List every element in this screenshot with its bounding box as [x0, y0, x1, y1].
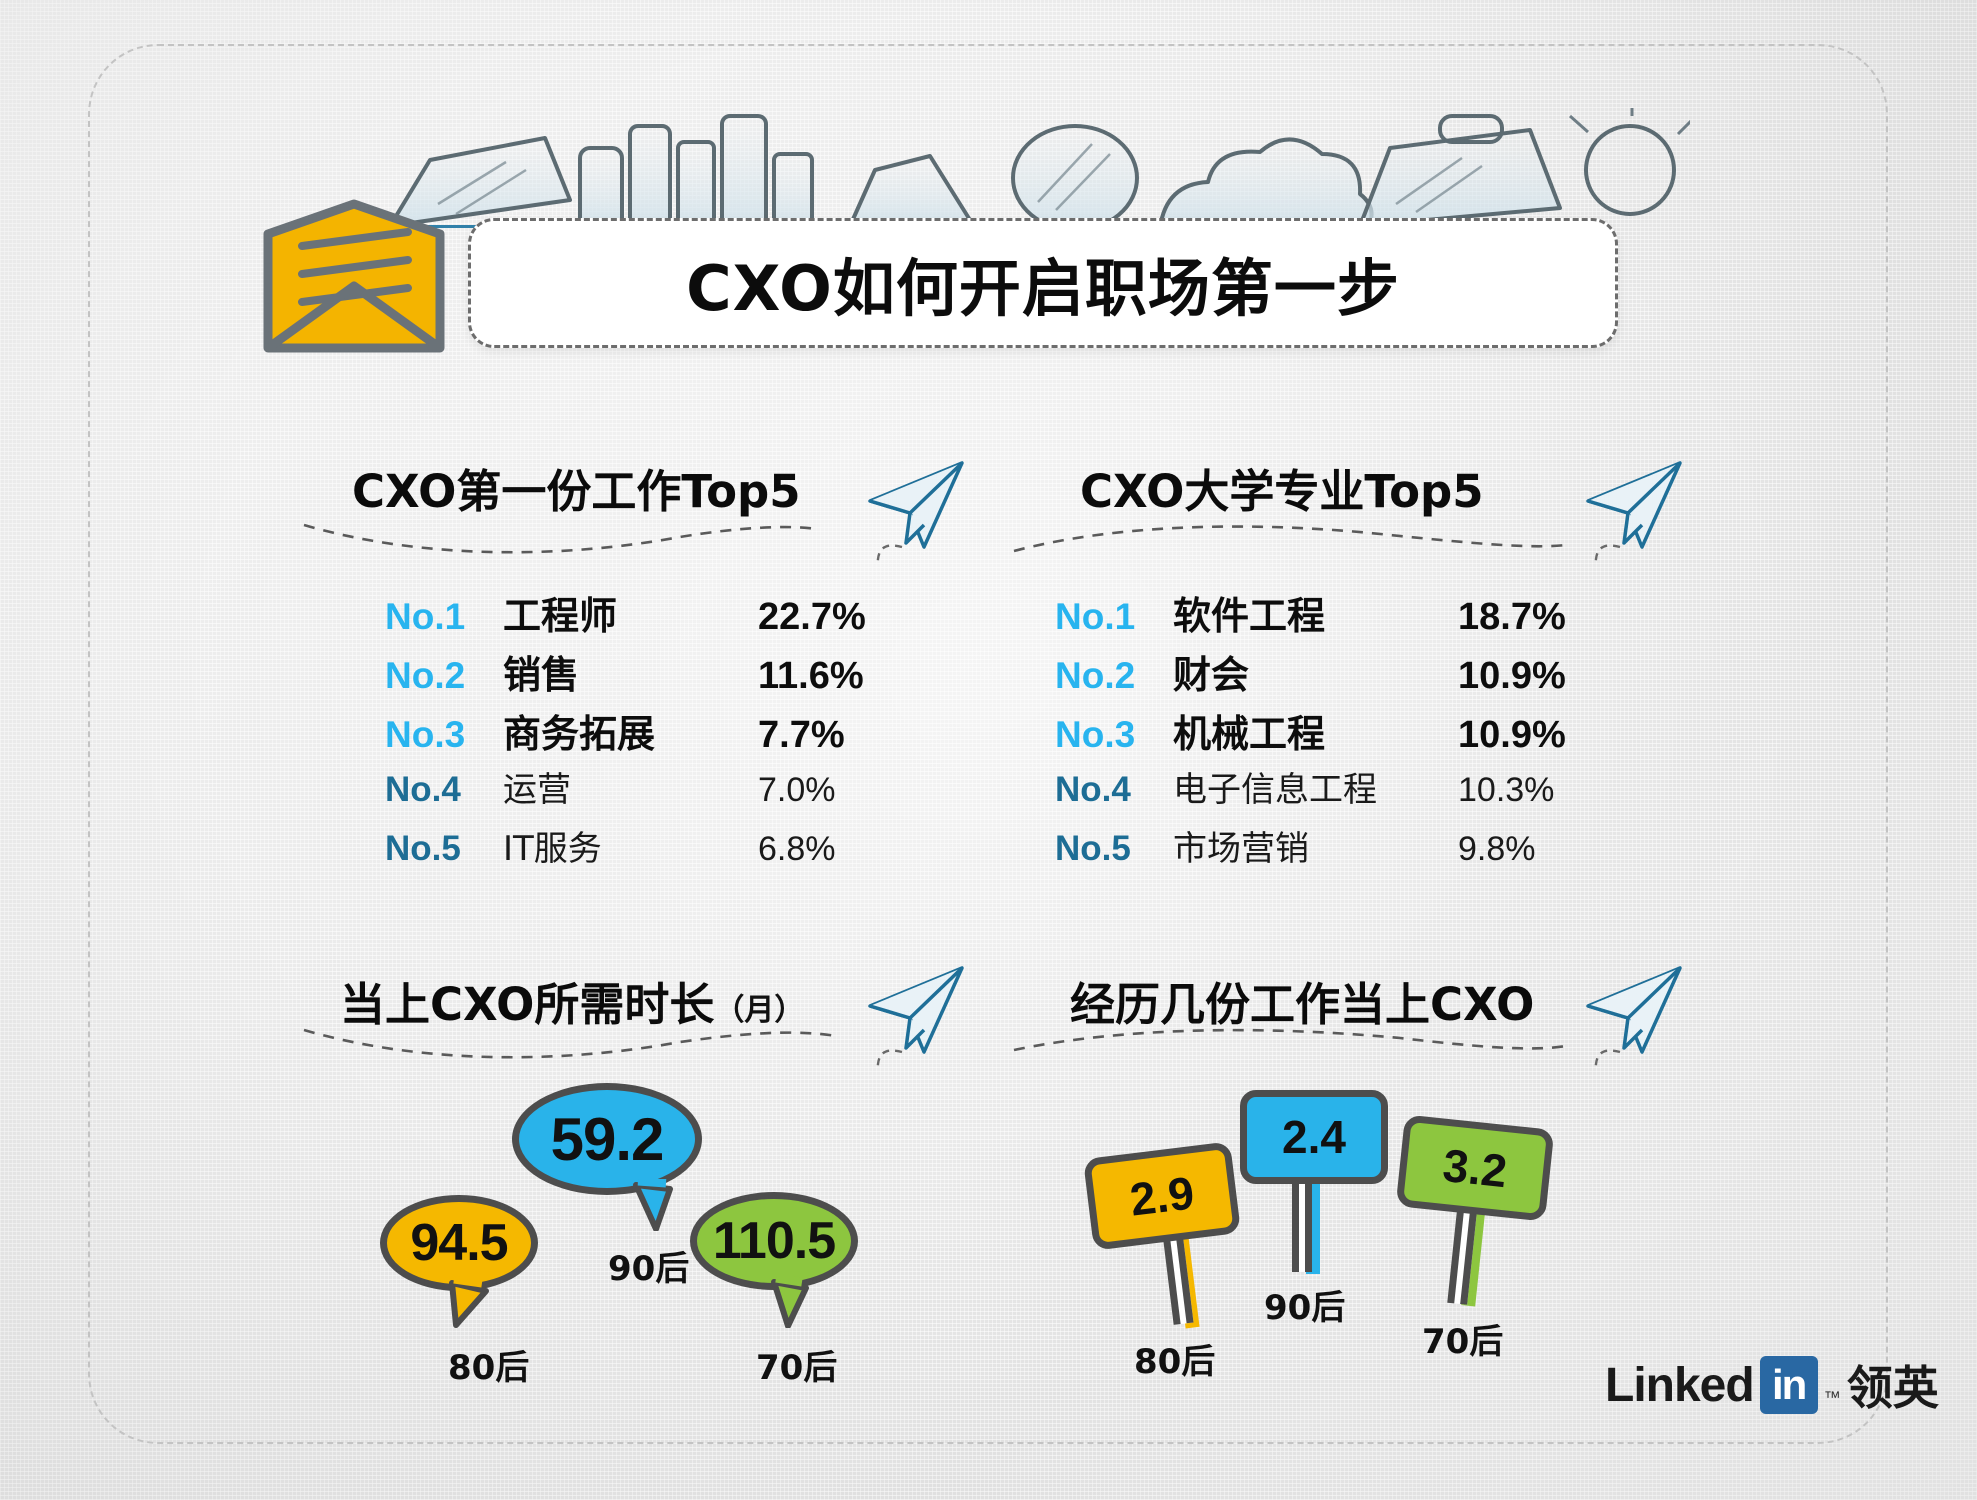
row-label: IT服务	[503, 821, 758, 870]
logo-chinese-name: 领英	[1847, 1352, 1939, 1418]
section-title-major: CXO大学专业Top5	[1080, 455, 1484, 520]
section-title-jobs: 经历几份工作当上CXO	[1070, 968, 1534, 1033]
sign-value: 2.9	[1127, 1165, 1197, 1226]
row-label: 运营	[503, 762, 758, 811]
section-unit-time: （月）	[714, 985, 804, 1029]
row-label: 商务拓展	[503, 703, 758, 758]
section-first-job: CXO第一份工作Top5	[352, 455, 801, 520]
linkedin-in-icon: in	[1760, 1356, 1818, 1414]
sign-generation-label: 80后	[1134, 1334, 1215, 1383]
rank-label: No.2	[385, 655, 503, 697]
bubble-value: 110.5	[713, 1211, 835, 1271]
row-value: 7.7%	[758, 714, 845, 757]
table-row: No.1 工程师 22.7%	[385, 585, 866, 644]
ranklist-first-job: No.1 工程师 22.7% No.2 销售 11.6% No.3 商务拓展 7…	[385, 585, 866, 880]
section-title-first-job: CXO第一份工作Top5	[352, 455, 801, 520]
rank-label: No.5	[1055, 829, 1173, 869]
row-label: 电子信息工程	[1173, 762, 1458, 811]
row-value: 9.8%	[1458, 830, 1536, 869]
bubble-tail-icon	[630, 1179, 676, 1231]
row-value: 11.6%	[758, 655, 864, 698]
bubble-generation-label: 80后	[448, 1340, 529, 1389]
bubble-tail-icon	[766, 1276, 812, 1328]
rank-label: No.1	[385, 596, 503, 638]
sign-value: 3.2	[1440, 1138, 1509, 1198]
rank-label: No.1	[1055, 596, 1173, 638]
bubble-generation-label: 90后	[608, 1241, 689, 1290]
row-value: 10.9%	[1458, 655, 1566, 698]
row-value: 7.0%	[758, 771, 836, 810]
sign-group-80: 2.9 80后	[1088, 1150, 1236, 1242]
bubble-value: 94.5	[410, 1213, 507, 1273]
sign-generation-label: 70后	[1422, 1314, 1503, 1363]
row-value: 18.7%	[1458, 596, 1566, 639]
logo-in-text: in	[1772, 1361, 1805, 1409]
logo-wordmark: Linked	[1605, 1358, 1754, 1413]
row-label: 市场营销	[1173, 821, 1458, 870]
row-value: 6.8%	[758, 830, 836, 869]
linkedin-logo: Linked in ™ 领英	[1605, 1352, 1939, 1418]
sign-80: 2.9	[1083, 1141, 1241, 1250]
row-label: 销售	[503, 644, 758, 699]
table-row: No.4 运营 7.0%	[385, 762, 866, 821]
rank-label: No.5	[385, 829, 503, 869]
table-row: No.2 销售 11.6%	[385, 644, 866, 703]
bubble-generation-label: 70后	[756, 1340, 837, 1389]
table-row: No.1 软件工程 18.7%	[1055, 585, 1566, 644]
sign-post	[1292, 1182, 1312, 1272]
section-title-time: 当上CXO所需时长	[340, 968, 714, 1033]
bubble-value: 59.2	[551, 1105, 664, 1174]
bubble-group-70: 110.5 70后	[690, 1192, 858, 1290]
sign-70: 3.2	[1396, 1114, 1555, 1221]
trademark-symbol: ™	[1824, 1388, 1841, 1408]
section-jobs-count: 经历几份工作当上CXO	[1070, 968, 1534, 1033]
row-label: 工程师	[503, 585, 758, 640]
bubble-tail-icon	[446, 1277, 492, 1329]
section-major: CXO大学专业Top5	[1080, 455, 1484, 520]
envelope-icon	[258, 198, 448, 363]
rank-label: No.3	[1055, 714, 1173, 756]
sign-generation-label: 90后	[1264, 1280, 1345, 1329]
bubble-group-90: 59.2 90后	[512, 1083, 702, 1195]
table-row: No.2 财会 10.9%	[1055, 644, 1566, 703]
table-row: No.3 机械工程 10.9%	[1055, 703, 1566, 762]
table-row: No.4 电子信息工程 10.3%	[1055, 762, 1566, 821]
row-label: 机械工程	[1173, 703, 1458, 758]
row-value: 10.3%	[1458, 771, 1554, 810]
sign-90: 2.4	[1240, 1090, 1388, 1184]
rank-label: No.3	[385, 714, 503, 756]
table-row: No.5 IT服务 6.8%	[385, 821, 866, 880]
page-title: CXO如何开启职场第一步	[686, 238, 1400, 328]
section-time-to-cxo: 当上CXO所需时长 （月）	[340, 968, 804, 1033]
rank-label: No.2	[1055, 655, 1173, 697]
sign-group-90: 2.4 90后	[1240, 1090, 1388, 1184]
table-row: No.5 市场营销 9.8%	[1055, 821, 1566, 880]
title-banner: CXO如何开启职场第一步	[468, 218, 1618, 348]
bubble-group-80: 94.5 80后	[380, 1195, 538, 1291]
row-value: 22.7%	[758, 596, 866, 639]
row-value: 10.9%	[1458, 714, 1566, 757]
table-row: No.3 商务拓展 7.7%	[385, 703, 866, 762]
office-doodles-icon	[330, 108, 1690, 233]
ranklist-major: No.1 软件工程 18.7% No.2 财会 10.9% No.3 机械工程 …	[1055, 585, 1566, 880]
sign-group-70: 3.2 70后	[1400, 1122, 1550, 1214]
row-label: 财会	[1173, 644, 1458, 699]
rank-label: No.4	[1055, 770, 1173, 810]
sign-value: 2.4	[1282, 1110, 1346, 1164]
row-label: 软件工程	[1173, 585, 1458, 640]
rank-label: No.4	[385, 770, 503, 810]
